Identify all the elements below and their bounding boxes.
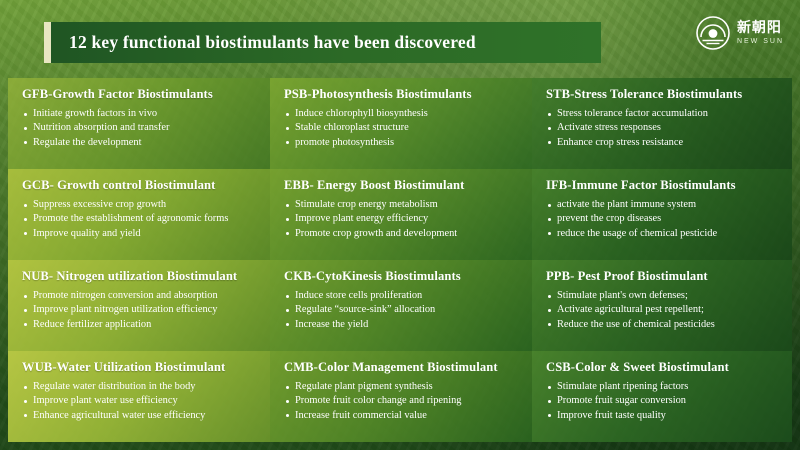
list-item: Enhance crop stress resistance <box>546 136 782 149</box>
sunrise-icon <box>696 16 730 50</box>
list-item: Stimulate plant ripening factors <box>546 380 782 393</box>
list-item: Improve plant water use efficiency <box>22 394 260 407</box>
card-ckb: CKB-CytoKinesis Biostimulants Induce sto… <box>270 260 532 351</box>
list-item: Promote nitrogen conversion and absorpti… <box>22 289 260 302</box>
card-title: NUB- Nitrogen utilization Biostimulant <box>22 269 260 284</box>
list-item: Improve plant nitrogen utilization effic… <box>22 303 260 316</box>
list-item: Induce chlorophyll biosynthesis <box>284 107 522 120</box>
brand-name-en: NEW SUN <box>737 38 784 45</box>
page-title: 12 key functional biostimulants have bee… <box>44 32 476 53</box>
card-title: PSB-Photosynthesis Biostimulants <box>284 87 522 102</box>
card-ebb: EBB- Energy Boost Biostimulant Stimulate… <box>270 169 532 260</box>
card-nub: NUB- Nitrogen utilization Biostimulant P… <box>8 260 270 351</box>
brand-logo: 新朝阳 NEW SUN <box>696 16 784 50</box>
card-title: WUB-Water Utilization Biostimulant <box>22 360 260 375</box>
list-item: Enhance agricultural water use efficienc… <box>22 409 260 422</box>
list-item: Increase fruit commercial value <box>284 409 522 422</box>
list-item: Stress tolerance factor accumulation <box>546 107 782 120</box>
list-item: Activate stress responses <box>546 121 782 134</box>
card-title: EBB- Energy Boost Biostimulant <box>284 178 522 193</box>
card-bullets: Regulate water distribution in the body … <box>22 380 260 422</box>
card-bullets: Promote nitrogen conversion and absorpti… <box>22 289 260 331</box>
card-title: STB-Stress Tolerance Biostimulants <box>546 87 782 102</box>
list-item: Improve quality and yield <box>22 227 260 240</box>
card-wub: WUB-Water Utilization Biostimulant Regul… <box>8 351 270 442</box>
list-item: Induce store cells proliferation <box>284 289 522 302</box>
card-bullets: activate the plant immune system prevent… <box>546 198 782 240</box>
card-ifb: IFB-Immune Factor Biostimulants activate… <box>532 169 792 260</box>
list-item: Improve plant energy efficiency <box>284 212 522 225</box>
list-item: Promote fruit color change and ripening <box>284 394 522 407</box>
list-item: Nutrition absorption and transfer <box>22 121 260 134</box>
card-bullets: Induce chlorophyll biosynthesis Stable c… <box>284 107 522 149</box>
list-item: activate the plant immune system <box>546 198 782 211</box>
brand-wordmark: 新朝阳 NEW SUN <box>737 21 784 45</box>
list-item: Regulate “source-sink” allocation <box>284 303 522 316</box>
card-bullets: Regulate plant pigment synthesis Promote… <box>284 380 522 422</box>
title-accent-bar <box>44 22 51 63</box>
card-bullets: Initiate growth factors in vivo Nutritio… <box>22 107 260 149</box>
brand-name-cn: 新朝阳 <box>737 21 784 35</box>
list-item: Reduce the use of chemical pesticides <box>546 318 782 331</box>
card-bullets: Stimulate crop energy metabolism Improve… <box>284 198 522 240</box>
card-bullets: Stress tolerance factor accumulation Act… <box>546 107 782 149</box>
card-bullets: Induce store cells proliferation Regulat… <box>284 289 522 331</box>
card-psb: PSB-Photosynthesis Biostimulants Induce … <box>270 78 532 169</box>
card-title: IFB-Immune Factor Biostimulants <box>546 178 782 193</box>
slide: 12 key functional biostimulants have bee… <box>0 0 800 450</box>
list-item: Improve fruit taste quality <box>546 409 782 422</box>
biostimulant-grid: GFB-Growth Factor Biostimulants Initiate… <box>8 78 792 442</box>
list-item: Regulate the development <box>22 136 260 149</box>
list-item: Promote the establishment of agronomic f… <box>22 212 260 225</box>
list-item: Promote crop growth and development <box>284 227 522 240</box>
card-title: PPB- Pest Proof Biostimulant <box>546 269 782 284</box>
list-item: Suppress excessive crop growth <box>22 198 260 211</box>
list-item: Reduce fertilizer application <box>22 318 260 331</box>
list-item: Stimulate crop energy metabolism <box>284 198 522 211</box>
card-title: GFB-Growth Factor Biostimulants <box>22 87 260 102</box>
card-title: CKB-CytoKinesis Biostimulants <box>284 269 522 284</box>
card-cmb: CMB-Color Management Biostimulant Regula… <box>270 351 532 442</box>
list-item: Regulate plant pigment synthesis <box>284 380 522 393</box>
list-item: Stimulate plant's own defenses; <box>546 289 782 302</box>
list-item: Stable chloroplast structure <box>284 121 522 134</box>
list-item: reduce the usage of chemical pesticide <box>546 227 782 240</box>
list-item: Increase the yield <box>284 318 522 331</box>
card-title: CSB-Color & Sweet Biostimulant <box>546 360 782 375</box>
card-bullets: Stimulate plant ripening factors Promote… <box>546 380 782 422</box>
list-item: Initiate growth factors in vivo <box>22 107 260 120</box>
list-item: Regulate water distribution in the body <box>22 380 260 393</box>
card-title: GCB- Growth control Biostimulant <box>22 178 260 193</box>
card-stb: STB-Stress Tolerance Biostimulants Stres… <box>532 78 792 169</box>
list-item: Promote fruit sugar conversion <box>546 394 782 407</box>
list-item: prevent the crop diseases <box>546 212 782 225</box>
card-gcb: GCB- Growth control Biostimulant Suppres… <box>8 169 270 260</box>
card-bullets: Stimulate plant's own defenses; Activate… <box>546 289 782 331</box>
list-item: promote photosynthesis <box>284 136 522 149</box>
card-bullets: Suppress excessive crop growth Promote t… <box>22 198 260 240</box>
title-banner: 12 key functional biostimulants have bee… <box>44 22 601 63</box>
card-ppb: PPB- Pest Proof Biostimulant Stimulate p… <box>532 260 792 351</box>
card-gfb: GFB-Growth Factor Biostimulants Initiate… <box>8 78 270 169</box>
list-item: Activate agricultural pest repellent; <box>546 303 782 316</box>
card-title: CMB-Color Management Biostimulant <box>284 360 522 375</box>
card-csb: CSB-Color & Sweet Biostimulant Stimulate… <box>532 351 792 442</box>
